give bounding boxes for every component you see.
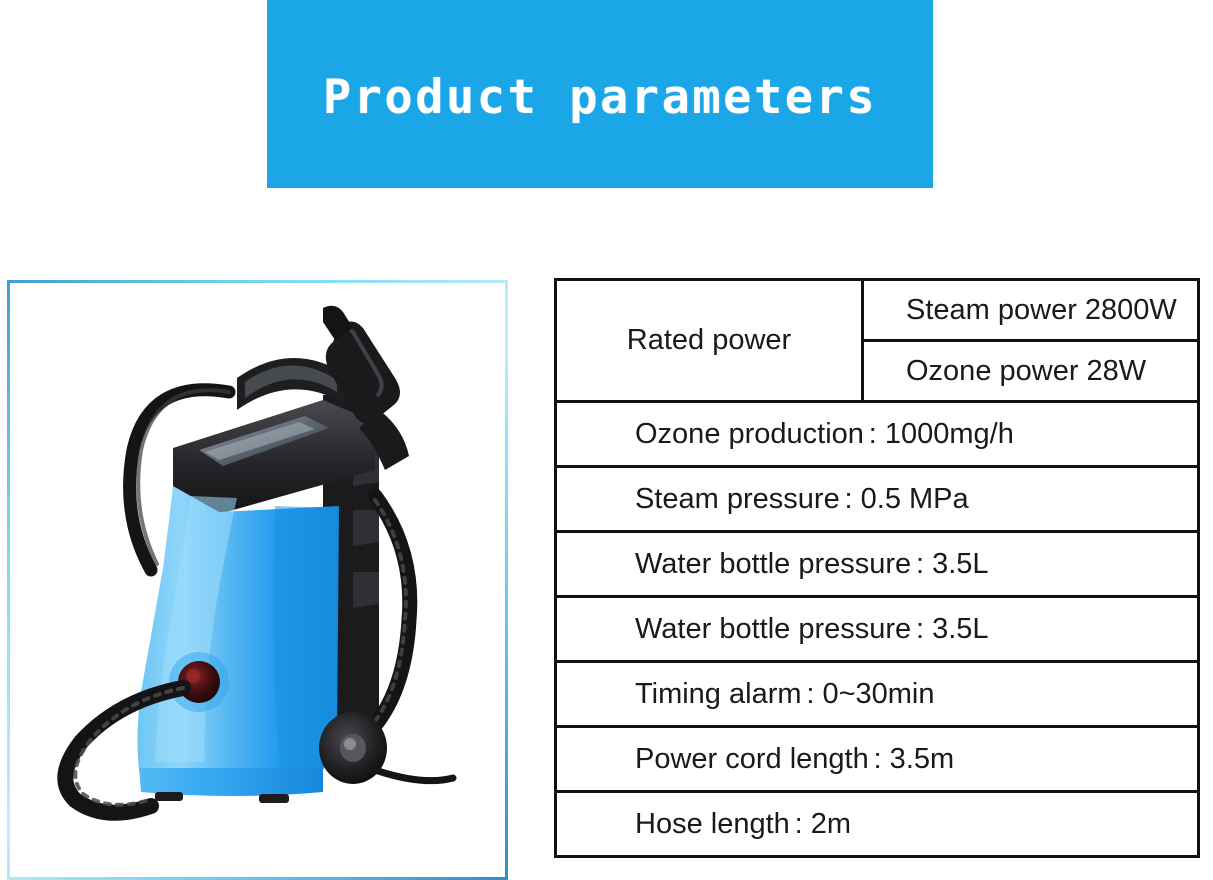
product-photo-frame — [7, 280, 508, 880]
steam-cleaner-illustration — [23, 300, 493, 860]
table-row: Steam pressure : 0.5 MPa — [556, 467, 1199, 532]
spec-value-ozone-power: Ozone power 28W — [863, 341, 1199, 402]
ground-cable — [375, 770, 453, 781]
page-title: Product parameters — [323, 74, 877, 121]
table-row: Water bottle pressure : 3.5L — [556, 532, 1199, 597]
product-spec-table: Rated power Steam power 2800W Ozone powe… — [554, 278, 1200, 858]
table-row: Ozone production : 1000mg/h — [556, 402, 1199, 467]
base-shell — [139, 768, 323, 796]
spec-row-water-bottle-pressure-2: Water bottle pressure : 3.5L — [556, 597, 1199, 662]
table-row: Rated power Steam power 2800W — [556, 280, 1199, 341]
spec-row-power-cord-length: Power cord length : 3.5m — [556, 727, 1199, 792]
spec-label-rated-power: Rated power — [556, 280, 863, 402]
spec-row-timing-alarm: Timing alarm : 0~30min — [556, 662, 1199, 727]
table-row: Hose length : 2m — [556, 792, 1199, 857]
product-parameters-banner: Product parameters — [267, 0, 933, 188]
spec-value-steam-power: Steam power 2800W — [863, 280, 1199, 341]
spec-table-body: Rated power Steam power 2800W Ozone powe… — [556, 280, 1199, 857]
spec-row-steam-pressure: Steam pressure : 0.5 MPa — [556, 467, 1199, 532]
product-photo — [10, 283, 505, 877]
spec-row-water-bottle-pressure-1: Water bottle pressure : 3.5L — [556, 532, 1199, 597]
spec-row-hose-length: Hose length : 2m — [556, 792, 1199, 857]
spec-row-ozone-production: Ozone production : 1000mg/h — [556, 402, 1199, 467]
table-row: Power cord length : 3.5m — [556, 727, 1199, 792]
table-row: Water bottle pressure : 3.5L — [556, 597, 1199, 662]
table-row: Timing alarm : 0~30min — [556, 662, 1199, 727]
